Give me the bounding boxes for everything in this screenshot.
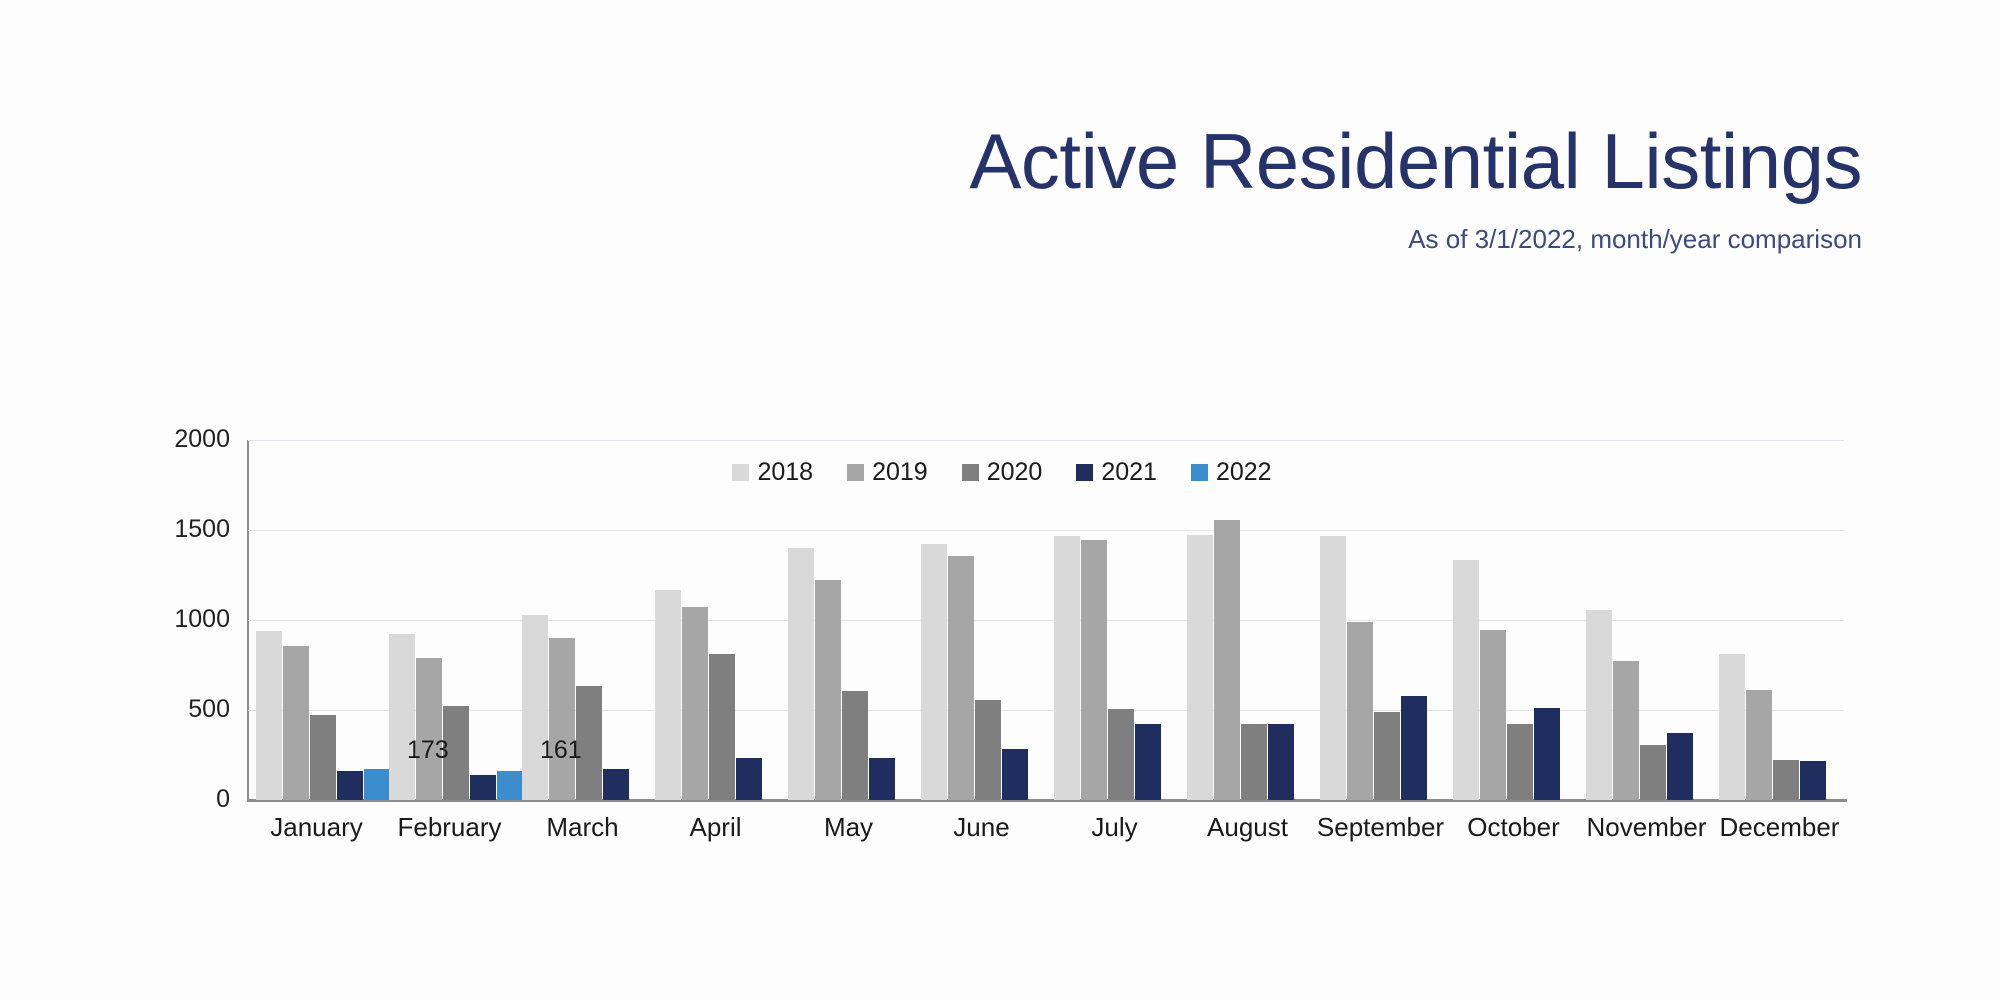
y-axis-tick-label: 0 [110, 787, 230, 812]
bar-slot [709, 440, 736, 800]
bar-december-2020[interactable] [1773, 760, 1799, 800]
bar-august-2020[interactable] [1241, 724, 1267, 800]
bar-slot [630, 440, 655, 800]
bar-slot [1054, 440, 1081, 800]
bar-slot [1081, 440, 1108, 800]
x-axis-label-may: May [824, 812, 873, 842]
bar-july-2019[interactable] [1081, 540, 1107, 800]
bar-slot [975, 440, 1002, 800]
bar-february-2022[interactable] [497, 771, 523, 800]
bar-august-2018[interactable] [1187, 535, 1213, 800]
bar-june-2018[interactable] [921, 544, 947, 800]
bar-group-december [1719, 440, 1852, 800]
page-title: Active Residential Listings [0, 118, 1862, 204]
x-axis-label-march: March [546, 812, 618, 842]
bar-february-2019[interactable] [416, 658, 442, 800]
bar-data-label: 161 [540, 738, 582, 763]
x-axis-label-october: October [1467, 812, 1560, 842]
bar-june-2019[interactable] [948, 556, 974, 800]
bar-slot [948, 440, 975, 800]
x-axis-label-july: July [1091, 812, 1137, 842]
bar-march-2021[interactable] [603, 769, 629, 800]
y-axis-tick-label: 1500 [110, 517, 230, 542]
bar-slot [682, 440, 709, 800]
bar-april-2021[interactable] [736, 758, 762, 800]
y-axis-tick-label: 500 [110, 697, 230, 722]
bar-slot [1773, 440, 1800, 800]
bar-slot [1453, 440, 1480, 800]
bar-slot [1586, 440, 1613, 800]
bar-slot [1187, 440, 1214, 800]
bar-july-2020[interactable] [1108, 709, 1134, 800]
bar-september-2019[interactable] [1347, 622, 1373, 800]
bar-september-2020[interactable] [1374, 712, 1400, 800]
bar-slot [655, 440, 682, 800]
bar-february-2021[interactable] [470, 775, 496, 800]
bar-group-july [1054, 440, 1187, 800]
bar-slot [763, 440, 788, 800]
bar-slot [1640, 440, 1667, 800]
page-subtitle: As of 3/1/2022, month/year comparison [0, 224, 1862, 254]
bar-group-january [256, 440, 389, 800]
x-axis-label-january: January [270, 812, 363, 842]
bar-slot [310, 440, 337, 800]
bar-december-2019[interactable] [1746, 690, 1772, 800]
bar-october-2019[interactable] [1480, 630, 1506, 800]
bar-slot [1268, 440, 1295, 800]
bar-slot [1827, 440, 1852, 800]
bar-september-2018[interactable] [1320, 536, 1346, 800]
bar-january-2018[interactable] [256, 631, 282, 800]
x-axis-label-august: August [1207, 812, 1288, 842]
bar-july-2018[interactable] [1054, 536, 1080, 800]
bar-november-2020[interactable] [1640, 745, 1666, 800]
x-axis-label-september: September [1317, 812, 1444, 842]
bar-group-may [788, 440, 921, 800]
x-axis-label-december: December [1720, 812, 1840, 842]
bar-group-september [1320, 440, 1453, 800]
bar-slot [736, 440, 763, 800]
bar-slot [364, 440, 391, 800]
bar-april-2018[interactable] [655, 590, 681, 800]
bar-february-2018[interactable] [389, 634, 415, 800]
bar-may-2020[interactable] [842, 691, 868, 800]
bar-slot [815, 440, 842, 800]
bar-january-2020[interactable] [310, 715, 336, 800]
bar-slot [896, 440, 921, 800]
bar-may-2019[interactable] [815, 580, 841, 800]
bar-slot [1746, 440, 1773, 800]
bar-group-august [1187, 440, 1320, 800]
bar-group-october [1453, 440, 1586, 800]
bar-may-2018[interactable] [788, 548, 814, 800]
bar-october-2018[interactable] [1453, 560, 1479, 800]
bar-slot [1002, 440, 1029, 800]
bar-august-2019[interactable] [1214, 520, 1240, 800]
bar-june-2020[interactable] [975, 700, 1001, 800]
bar-slot [283, 440, 310, 800]
title-block: Active Residential Listings As of 3/1/20… [0, 118, 1862, 254]
bar-slot [1800, 440, 1827, 800]
bar-november-2021[interactable] [1667, 733, 1693, 801]
bar-slot [497, 440, 524, 800]
bar-slot [1108, 440, 1135, 800]
bar-slot [1667, 440, 1694, 800]
bar-march-2019[interactable] [549, 638, 575, 800]
bar-december-2018[interactable] [1719, 654, 1745, 800]
bar-may-2021[interactable] [869, 758, 895, 800]
x-axis-label-february: February [397, 812, 501, 842]
bar-slot [842, 440, 869, 800]
bar-january-2022[interactable] [364, 769, 390, 800]
bar-march-2018[interactable] [522, 615, 548, 800]
bar-slot [603, 440, 630, 800]
bar-slot [1428, 440, 1453, 800]
bar-december-2021[interactable] [1800, 761, 1826, 800]
bar-slot [1561, 440, 1586, 800]
bar-slot [1507, 440, 1534, 800]
bar-data-label: 173 [407, 738, 449, 763]
y-axis-tick-label: 2000 [110, 427, 230, 452]
bar-october-2021[interactable] [1534, 708, 1560, 800]
bar-slot [1320, 440, 1347, 800]
y-axis-tick-label: 1000 [110, 607, 230, 632]
bar-november-2018[interactable] [1586, 610, 1612, 800]
bar-november-2019[interactable] [1613, 661, 1639, 800]
bar-group-november [1586, 440, 1719, 800]
bar-slot [1162, 440, 1187, 800]
bar-slot [1534, 440, 1561, 800]
bar-group-april [655, 440, 788, 800]
bar-slot [1694, 440, 1719, 800]
bar-august-2021[interactable] [1268, 724, 1294, 800]
bar-slot [1480, 440, 1507, 800]
bar-april-2020[interactable] [709, 654, 735, 800]
bar-slot [337, 440, 364, 800]
bar-january-2019[interactable] [283, 646, 309, 800]
plot-area [248, 440, 1844, 800]
bar-october-2020[interactable] [1507, 724, 1533, 800]
bar-april-2019[interactable] [682, 607, 708, 801]
bar-slot [1214, 440, 1241, 800]
bar-july-2021[interactable] [1135, 724, 1161, 800]
x-axis-label-november: November [1587, 812, 1707, 842]
bar-slot [1719, 440, 1746, 800]
bar-slot [1029, 440, 1054, 800]
bar-january-2021[interactable] [337, 771, 363, 800]
bar-slot [869, 440, 896, 800]
bar-slot [921, 440, 948, 800]
bar-slot [1135, 440, 1162, 800]
bar-slot [256, 440, 283, 800]
bar-june-2021[interactable] [1002, 749, 1028, 800]
bar-chart: 20182019202020212022 0500100015002000Jan… [152, 428, 1852, 836]
bar-slot [1295, 440, 1320, 800]
bar-slot [470, 440, 497, 800]
bar-slot [1347, 440, 1374, 800]
bar-slot [788, 440, 815, 800]
bar-slot [1241, 440, 1268, 800]
x-axis-label-april: April [689, 812, 741, 842]
bar-slot [1374, 440, 1401, 800]
bar-slot [1401, 440, 1428, 800]
bar-slot [1613, 440, 1640, 800]
x-axis-label-june: June [953, 812, 1009, 842]
bar-group-june [921, 440, 1054, 800]
bar-september-2021[interactable] [1401, 696, 1427, 800]
